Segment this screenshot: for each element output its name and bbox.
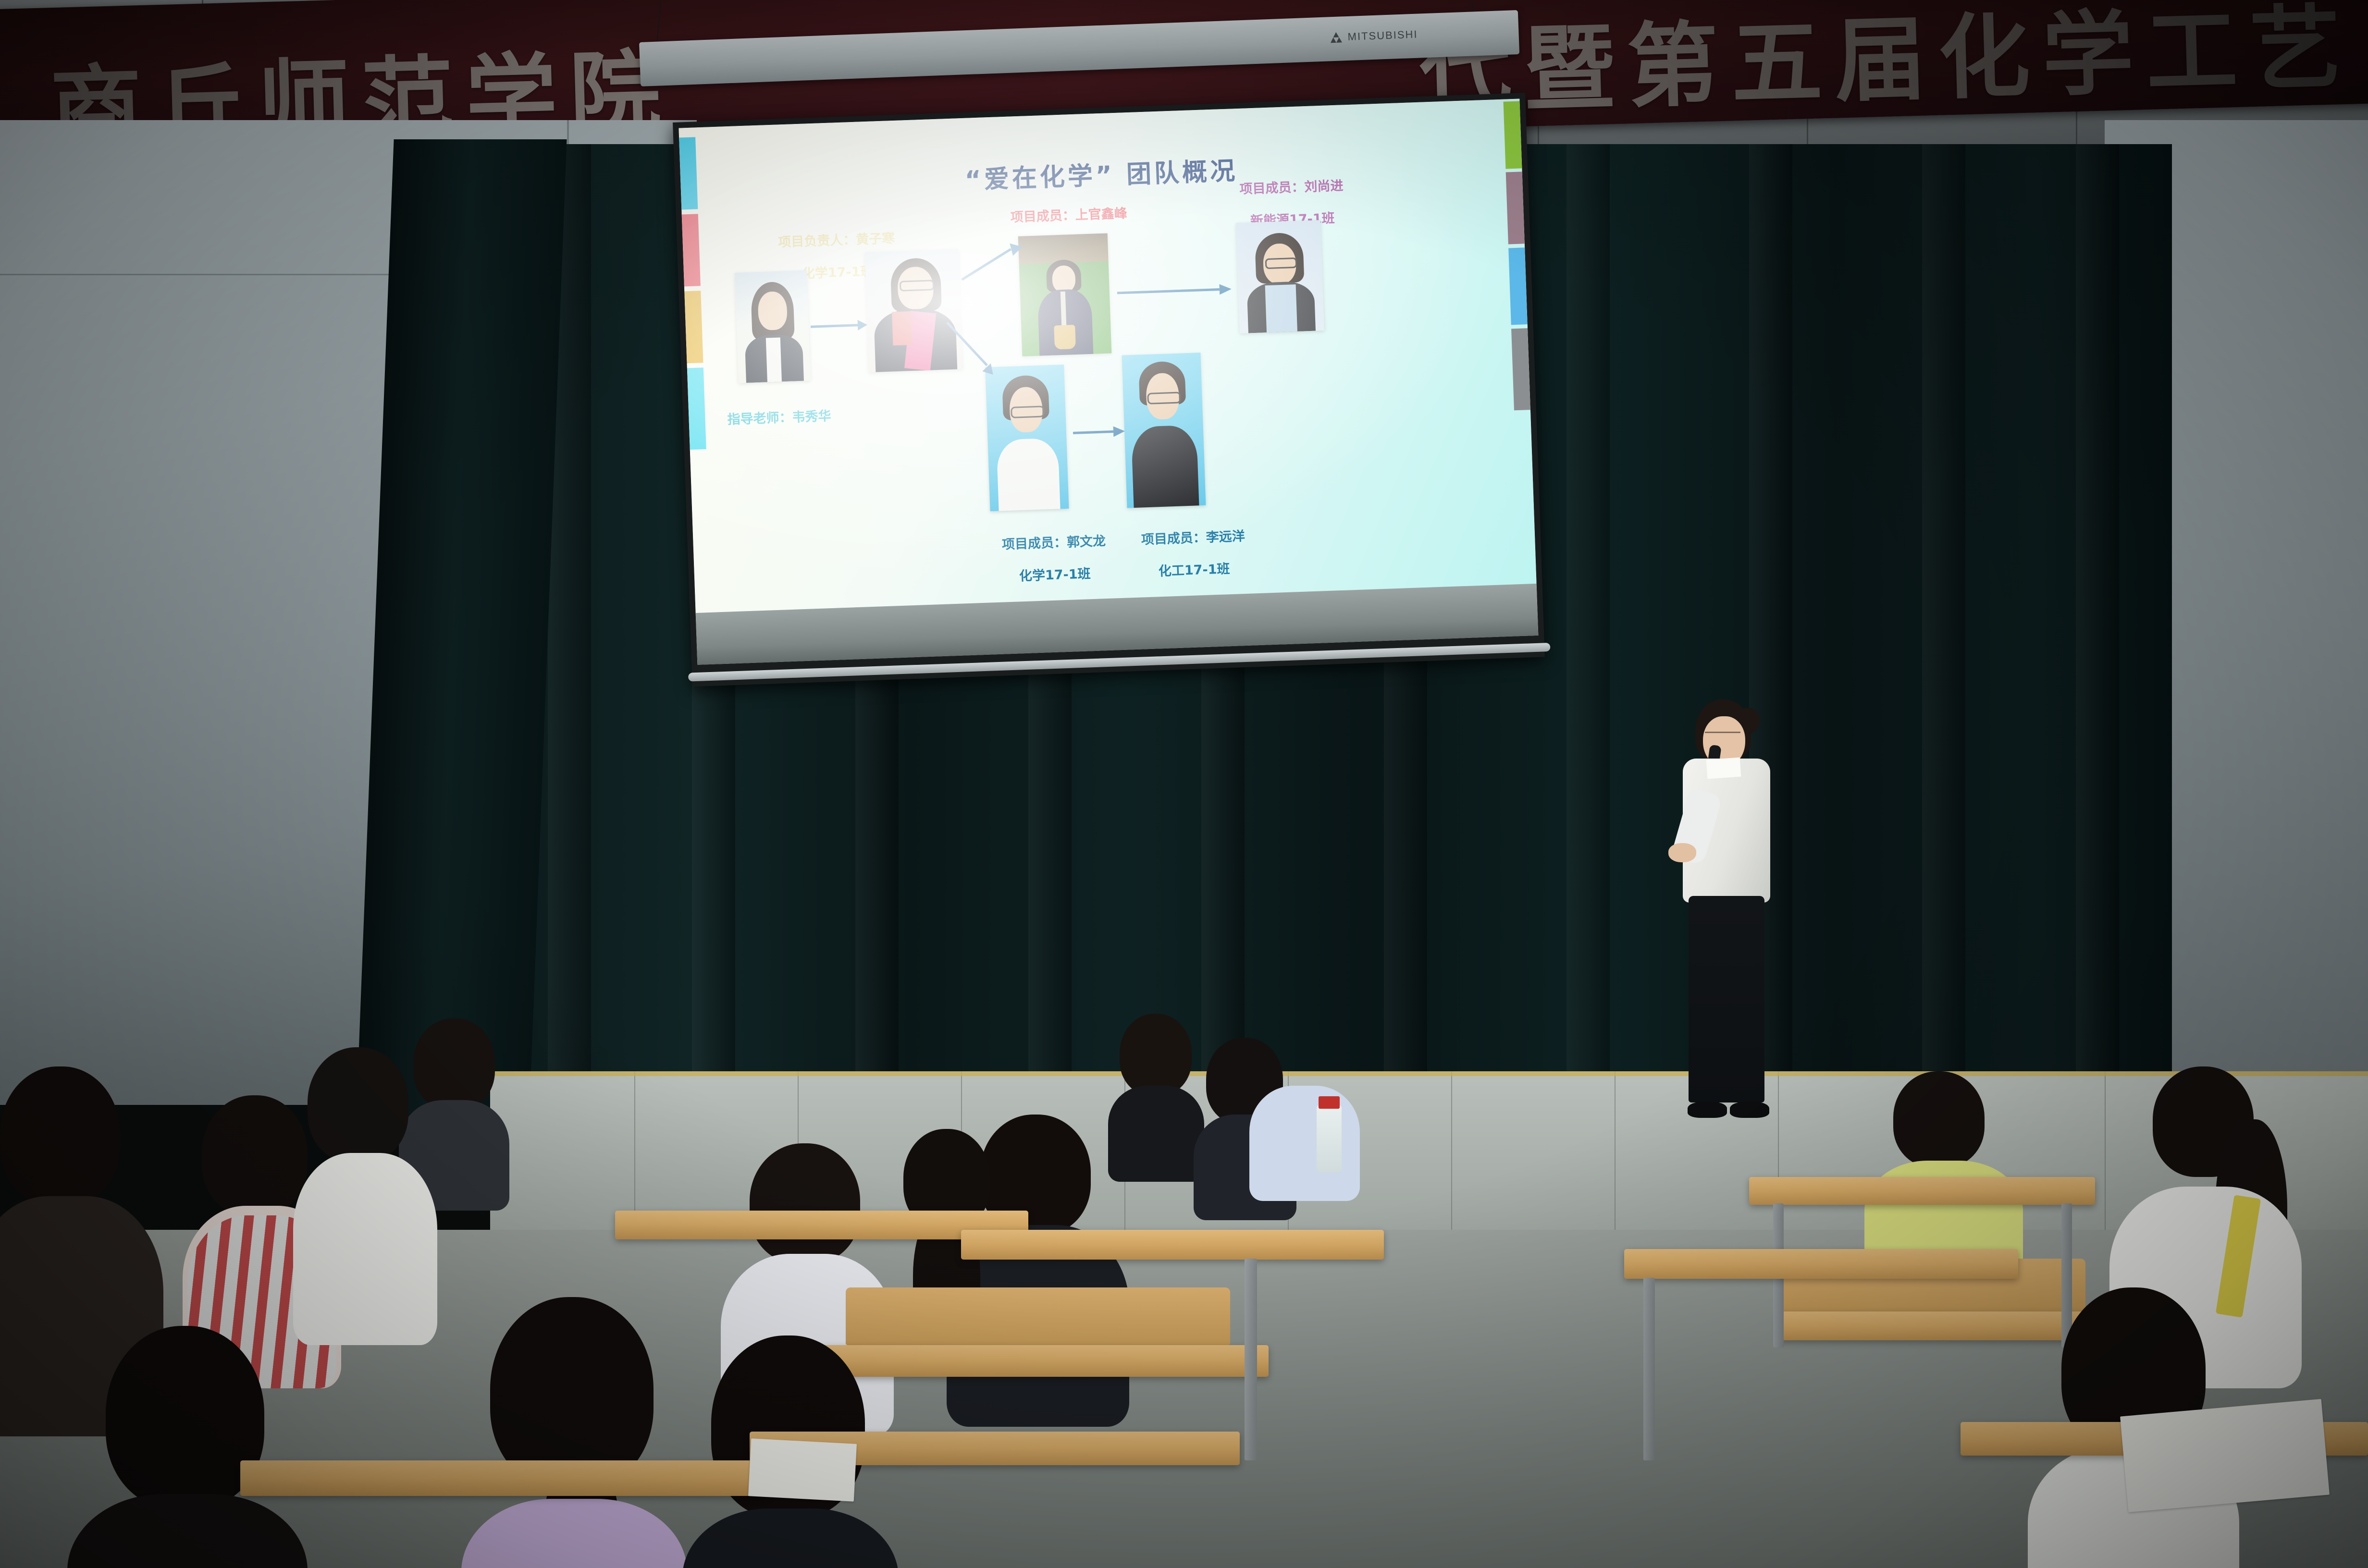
- caption-advisor: 指导老师：韦秀华: [727, 389, 910, 428]
- caption-member-liu-role: 项目成员：刘尚进: [1239, 178, 1344, 197]
- caption-member-guo-class: 化学17-1班: [1019, 566, 1091, 584]
- projection-screen: “爱在化学” 团队概况 项目负责人：黄子寒 化学17-1班 项目成员：上官鑫峰 …: [673, 93, 1545, 686]
- caption-member-guo-role: 项目成员：郭文龙: [1002, 534, 1106, 552]
- presenter-trousers: [1689, 896, 1764, 1102]
- arrow-leader-to-guo: [945, 319, 1000, 379]
- presentation-slide: “爱在化学” 团队概况 项目负责人：黄子寒 化学17-1班 项目成员：上官鑫峰 …: [678, 98, 1536, 612]
- screen-canvas: “爱在化学” 团队概况 项目负责人：黄子寒 化学17-1班 项目成员：上官鑫峰 …: [678, 98, 1538, 664]
- caption-project-leader-class: 化学17-1班: [802, 264, 874, 282]
- stage-edge-tape: [490, 1071, 2368, 1076]
- arrow-shangguan-to-liu: [1116, 278, 1232, 304]
- desk-leg: [1245, 1259, 1257, 1460]
- arrow-guo-to-li: [1072, 420, 1125, 444]
- caption-advisor-role: 指导老师：韦秀华: [727, 409, 831, 428]
- handout-paper: [748, 1438, 857, 1501]
- lecture-desk: [240, 1460, 769, 1496]
- handout-paper: [2120, 1399, 2330, 1512]
- slide-edge-block-gold: [684, 291, 703, 363]
- lecture-desk: [961, 1230, 1384, 1260]
- lecture-desk-backrest: [846, 1287, 1230, 1345]
- presenter-glasses: [1705, 732, 1740, 740]
- caption-member-li: 项目成员：李远洋 化工17-1班: [1120, 512, 1267, 581]
- arrow-advisor-to-leader: [809, 314, 868, 338]
- water-bottle-cap: [1319, 1096, 1340, 1109]
- lecture-desk: [1624, 1249, 2018, 1279]
- caption-member-li-class: 化工17-1班: [1158, 562, 1230, 579]
- slide-edge-block-blue: [1508, 247, 1528, 325]
- caption-member-shangguan-role: 项目成员：上官鑫峰: [1010, 206, 1127, 225]
- presenter: [1653, 699, 1797, 1141]
- caption-member-li-role: 项目成员：李远洋: [1141, 529, 1245, 548]
- caption-project-leader-role: 项目负责人：黄子寒: [778, 231, 895, 250]
- lecture-desk: [817, 1345, 1269, 1377]
- slide-edge-block-red: [682, 214, 701, 286]
- mitsubishi-logo: MITSUBISHI: [1330, 28, 1418, 44]
- presenter-hand: [1668, 843, 1696, 862]
- slide-edge-block-gray: [1511, 328, 1530, 410]
- presenter-shoe-right: [1730, 1102, 1769, 1118]
- arrow-leader-to-shangguan: [960, 242, 1024, 282]
- desk-leg: [1643, 1278, 1655, 1460]
- desk-leg: [2061, 1203, 2072, 1347]
- photo-member-shangguan: [1018, 233, 1112, 356]
- photo-advisor: [735, 270, 811, 383]
- photo-member-liu: [1236, 220, 1324, 333]
- caption-member-guo: 项目成员：郭文龙 化学17-1班: [981, 516, 1127, 586]
- slide-edge-block-cyan-bottom: [687, 367, 706, 450]
- photo-member-guo: [985, 365, 1069, 512]
- photo-member-li: [1122, 353, 1206, 508]
- slide-edge-block-mauve: [1506, 171, 1525, 244]
- presenter-collar: [1706, 758, 1741, 779]
- projector-brand-text: MITSUBISHI: [1347, 28, 1418, 43]
- mitsubishi-diamond-icon: [1330, 32, 1342, 43]
- water-bottle: [1317, 1105, 1342, 1172]
- presenter-shoe-left: [1688, 1102, 1727, 1118]
- lecture-desk: [1749, 1177, 2095, 1205]
- lecture-hall-photo: 商丘师范学院 代暨第五届化学工艺 MITSUBISHI: [0, 0, 2368, 1568]
